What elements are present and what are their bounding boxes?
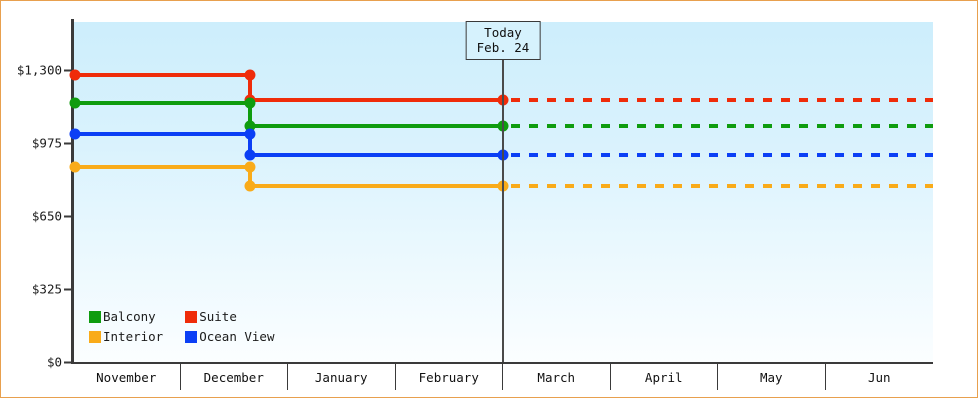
legend-item-interior[interactable]: Interior [89,329,163,344]
x-axis-month-november[interactable]: November [73,364,181,390]
today-annotation-box: Today Feb. 24 [466,21,541,60]
x-axis-month-march[interactable]: March [503,364,611,390]
today-label: Today [477,25,530,40]
x-axis-month-april[interactable]: April [611,364,719,390]
data-point-suite-start [70,69,81,80]
legend-item-label: Interior [103,329,163,344]
y-axis-tick-label: $650 [32,209,62,224]
data-point-interior-start [70,162,81,173]
legend-item-suite[interactable]: Suite [185,309,274,324]
chart-legend: BalconySuiteInteriorOcean View [89,309,274,344]
x-axis-month-may[interactable]: May [718,364,826,390]
data-point-ocean-view-pre-step [245,129,256,140]
data-point-ocean-view-start [70,129,81,140]
series-line-interior-forecast [511,184,933,188]
x-axis-month-february[interactable]: February [396,364,504,390]
y-axis-tick: $975 [32,136,71,151]
y-axis-tick: $1,300 [17,63,71,78]
y-axis-tick: $325 [32,282,71,297]
y-axis-tick-mark [64,288,71,290]
price-history-chart: $0$325$650$975$1,300 Today Feb. 24 Balco… [0,0,978,398]
x-axis-month-labels: NovemberDecemberJanuaryFebruaryMarchApri… [73,364,933,390]
today-vertical-line [502,22,504,362]
legend-item-label: Ocean View [199,329,274,344]
x-axis-month-jun[interactable]: Jun [826,364,934,390]
today-date: Feb. 24 [477,40,530,55]
y-axis-tick-mark [64,142,71,144]
data-point-suite-pre-step [245,69,256,80]
legend-swatch-icon [185,331,197,343]
data-point-interior-post-step [245,180,256,191]
y-axis-tick-mark [64,215,71,217]
legend-swatch-icon [89,331,101,343]
data-point-interior-pre-step [245,162,256,173]
legend-item-label: Balcony [103,309,156,324]
y-axis-tick-label: $0 [47,355,62,370]
series-line-suite-current [248,98,505,102]
series-line-balcony-historic [73,101,252,105]
series-line-ocean-view-forecast [511,153,933,157]
y-axis-tick-mark [64,361,71,363]
series-line-ocean-view-current [248,153,505,157]
series-line-balcony-current [248,124,505,128]
legend-swatch-icon [89,311,101,323]
series-line-ocean-view-historic [73,132,252,136]
y-axis-tick: $0 [47,355,71,370]
series-line-balcony-forecast [511,124,933,128]
y-axis-ticks: $0$325$650$975$1,300 [1,1,71,399]
y-axis-tick-label: $325 [32,282,62,297]
series-line-interior-current [248,184,505,188]
y-axis-tick: $650 [32,209,71,224]
legend-item-label: Suite [199,309,237,324]
data-point-balcony-start [70,98,81,109]
data-point-balcony-pre-step [245,98,256,109]
series-line-suite-forecast [511,98,933,102]
y-axis-tick-label: $1,300 [17,63,62,78]
series-line-interior-historic [73,165,252,169]
legend-item-balcony[interactable]: Balcony [89,309,163,324]
series-line-suite-historic [73,73,252,77]
data-point-ocean-view-post-step [245,149,256,160]
x-axis-month-december[interactable]: December [181,364,289,390]
legend-swatch-icon [185,311,197,323]
y-axis-tick-label: $975 [32,136,62,151]
x-axis-month-january[interactable]: January [288,364,396,390]
legend-item-ocean-view[interactable]: Ocean View [185,329,274,344]
